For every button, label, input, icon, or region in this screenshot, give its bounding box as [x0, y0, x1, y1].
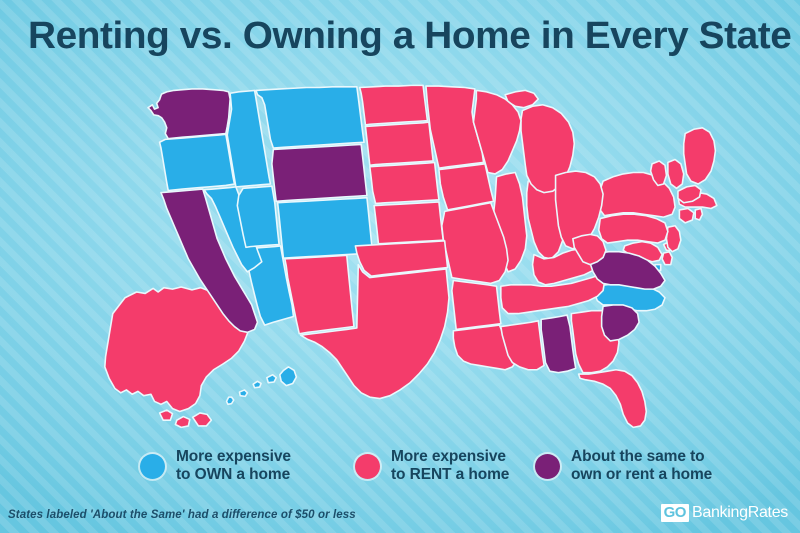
state-nd[interactable] [360, 85, 428, 125]
state-ct[interactable] [679, 208, 693, 222]
legend-swatch-same-icon [535, 454, 560, 479]
us-map-svg [46, 76, 762, 436]
legend-label-same: About the same to own or rent a home [571, 448, 712, 484]
footnote: States labeled 'About the Same' had a di… [8, 509, 356, 521]
state-wa[interactable] [148, 89, 230, 139]
state-fl[interactable] [579, 370, 647, 428]
legend-item-same[interactable]: About the same to own or rent a home [535, 448, 760, 484]
page-title: Renting vs. Owning a Home in Every State [28, 14, 800, 58]
legend-label-own: More expensive to OWN a home [176, 448, 291, 484]
state-ne[interactable] [370, 162, 439, 203]
state-wy[interactable] [272, 144, 367, 201]
state-sd[interactable] [365, 122, 433, 165]
legend-item-own[interactable]: More expensive to OWN a home [140, 448, 355, 484]
state-sc[interactable] [602, 305, 639, 341]
state-ar[interactable] [452, 280, 501, 329]
infographic: Renting vs. Owning a Home in Every State… [0, 0, 800, 533]
state-de[interactable] [662, 252, 672, 265]
legend-swatch-own-icon [140, 454, 165, 479]
state-mt[interactable] [256, 87, 364, 148]
state-or[interactable] [160, 134, 235, 190]
legend-label-rent: More expensive to RENT a home [391, 448, 509, 484]
logo-wordmark: BankingRates [692, 504, 788, 522]
legend: More expensive to OWN a home More expens… [140, 448, 760, 494]
state-ks[interactable] [374, 202, 443, 244]
state-nm[interactable] [285, 255, 354, 333]
gobankingrates-logo[interactable]: GO BankingRates [661, 503, 788, 523]
state-al[interactable] [541, 315, 576, 373]
state-pa[interactable] [599, 214, 668, 243]
state-hi[interactable] [227, 367, 297, 404]
legend-swatch-rent-icon [355, 454, 380, 479]
state-me[interactable] [684, 128, 716, 184]
state-ri[interactable] [695, 208, 702, 220]
logo-go-mark: GO [661, 504, 689, 522]
us-choropleth-map [46, 76, 762, 436]
state-nj[interactable] [666, 226, 680, 252]
state-ut[interactable] [237, 186, 279, 247]
state-nh[interactable] [668, 160, 684, 189]
states-layer [105, 85, 717, 427]
legend-item-rent[interactable]: More expensive to RENT a home [355, 448, 535, 484]
